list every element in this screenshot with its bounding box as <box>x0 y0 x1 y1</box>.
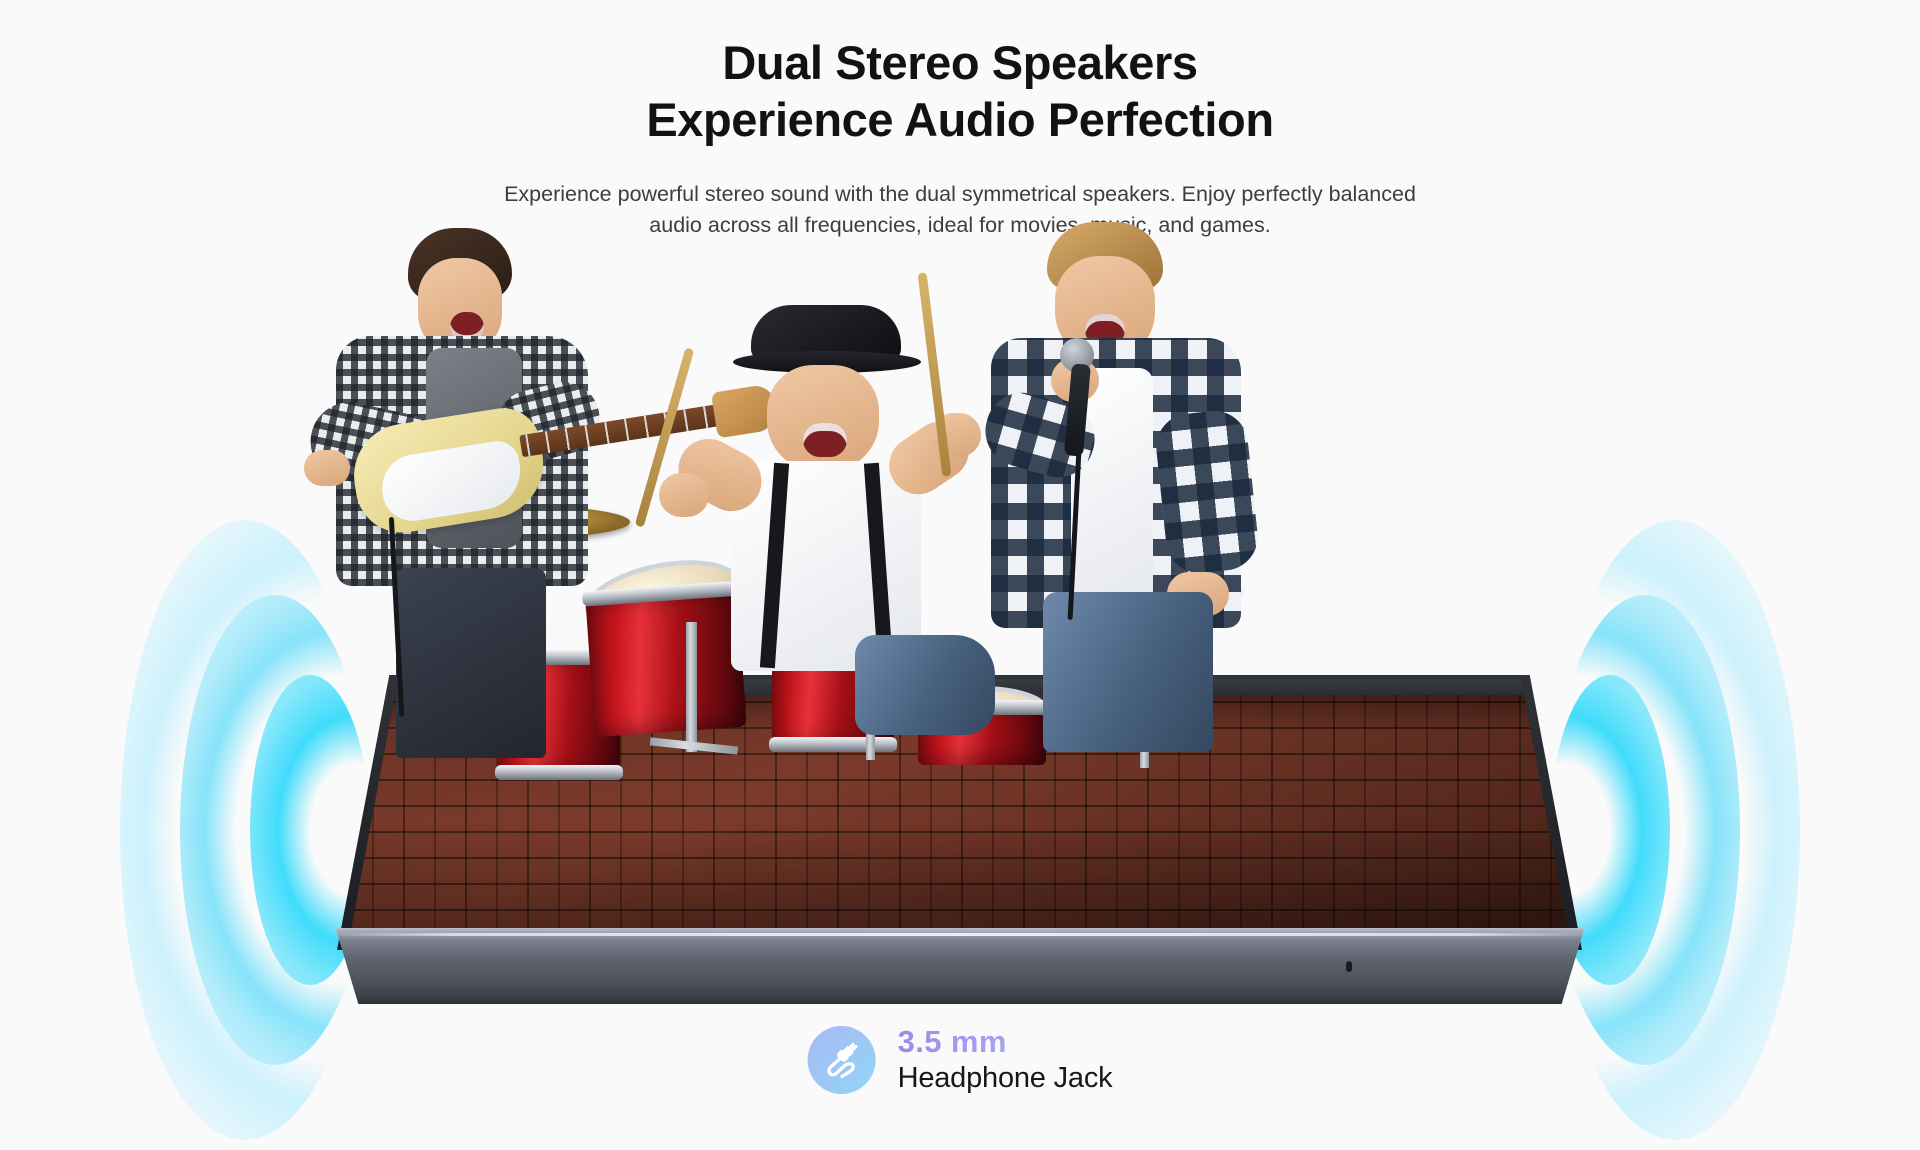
tablet-bottom-frame <box>328 928 1592 1004</box>
guitarist-hand-left <box>304 450 350 486</box>
frame-highlight <box>328 933 1592 936</box>
performer-singer <box>985 222 1285 752</box>
headphone-jack-text: 3.5 mm Headphone Jack <box>898 1025 1113 1094</box>
drummer-jeans <box>855 635 995 735</box>
drummer-hand-left <box>659 473 709 517</box>
headphone-jack-badge: 3.5 mm Headphone Jack <box>808 1025 1113 1094</box>
headphone-jack-icon <box>808 1026 876 1094</box>
jack-size-value: 3.5 mm <box>898 1025 1113 1060</box>
device-stage <box>0 0 1920 1030</box>
jack-label: Headphone Jack <box>898 1062 1113 1094</box>
guitarist-legs <box>396 568 546 758</box>
microphone-hole-icon <box>1346 961 1352 972</box>
drum-rim <box>495 765 623 780</box>
drummer-mouth <box>803 423 847 457</box>
drum-rim <box>769 737 897 752</box>
singer-arm-right <box>1153 408 1261 577</box>
